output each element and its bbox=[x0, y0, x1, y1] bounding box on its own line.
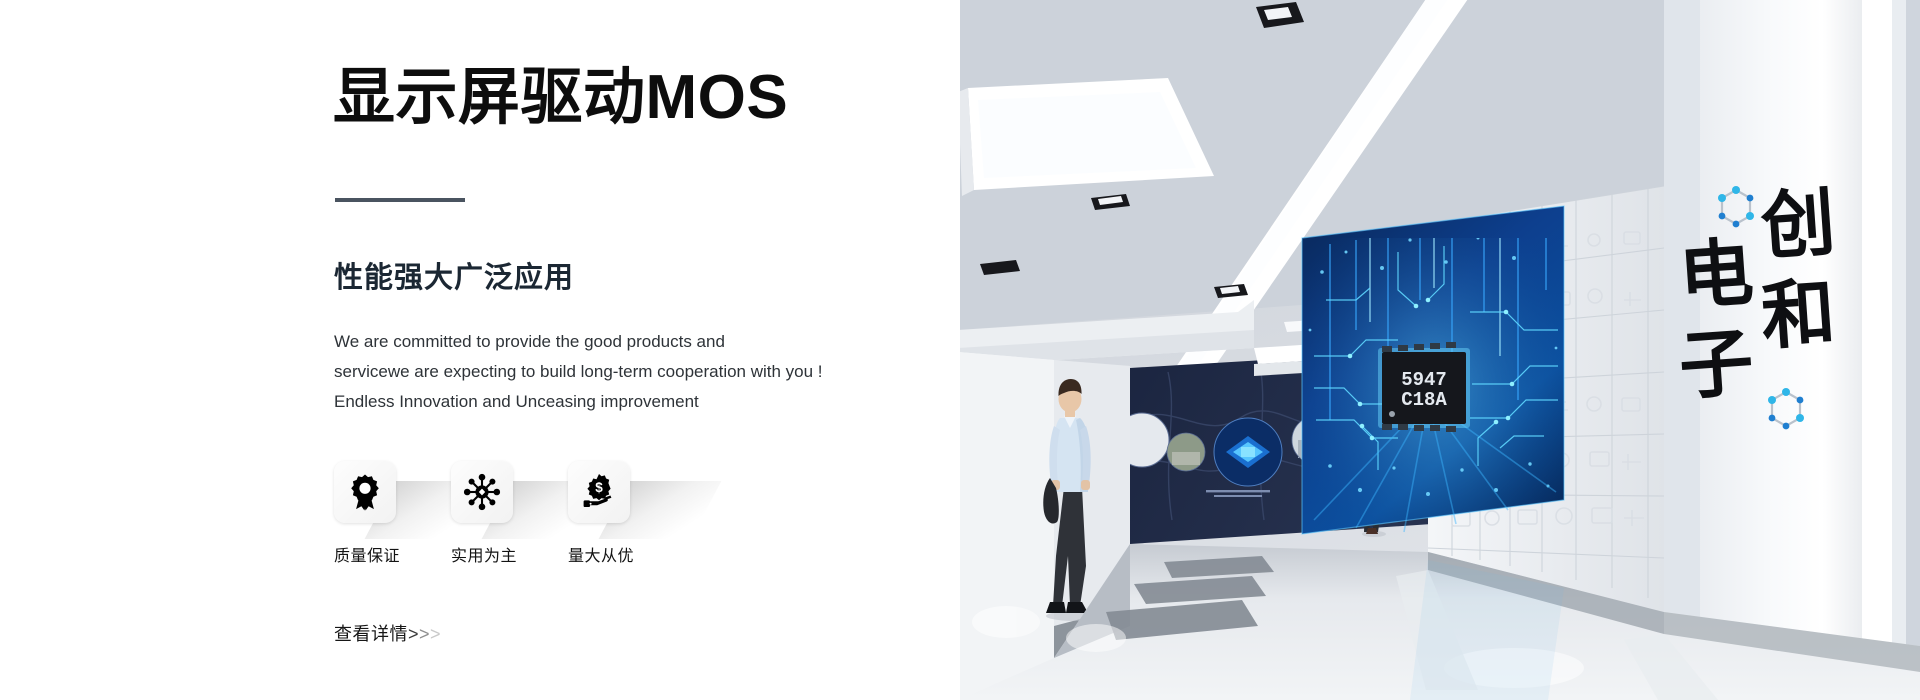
view-details-link[interactable]: 查看详情>>> bbox=[334, 620, 441, 646]
network-hub-icon bbox=[451, 461, 513, 523]
chevron-3-icon: > bbox=[430, 624, 441, 644]
showroom-photo: 5947 C18A 电 子 创 和 bbox=[958, 0, 1920, 700]
banner-text-panel: 显示屏驱动MOS 性能强大广泛应用 We are committed to pr… bbox=[0, 0, 960, 700]
hero-banner: 显示屏驱动MOS 性能强大广泛应用 We are committed to pr… bbox=[0, 0, 1920, 700]
feature-item-practical[interactable]: 实用为主 bbox=[451, 461, 568, 566]
feature-item-bulk-discount[interactable]: $ 量大从优 bbox=[568, 461, 685, 566]
feature-label: 质量保证 bbox=[334, 542, 400, 566]
description-line-1: We are committed to provide the good pro… bbox=[334, 327, 894, 357]
svg-text:子: 子 bbox=[1676, 321, 1756, 409]
description-line-2: servicewe are expecting to build long-te… bbox=[334, 357, 894, 387]
hand-money-icon: $ bbox=[568, 461, 630, 523]
description-line-3: Endless Innovation and Unceasing improve… bbox=[334, 387, 894, 417]
banner-subtitle: 性能强大广泛应用 bbox=[334, 258, 574, 298]
feature-label: 实用为主 bbox=[451, 542, 517, 566]
chevron-2-icon: > bbox=[419, 624, 430, 644]
banner-description: We are committed to provide the good pro… bbox=[334, 327, 894, 417]
svg-text:$: $ bbox=[595, 480, 603, 495]
chevron-1-icon: > bbox=[408, 624, 419, 644]
view-details-label: 查看详情 bbox=[334, 624, 408, 644]
svg-text:5947: 5947 bbox=[1401, 369, 1447, 391]
title-divider bbox=[335, 198, 465, 202]
medal-award-icon bbox=[334, 461, 396, 523]
svg-text:创: 创 bbox=[1757, 181, 1838, 269]
page-title: 显示屏驱动MOS bbox=[333, 60, 788, 136]
svg-text:C18A: C18A bbox=[1401, 389, 1447, 411]
svg-text:电: 电 bbox=[1676, 231, 1756, 319]
svg-text:和: 和 bbox=[1758, 271, 1838, 359]
feature-list: 质量保证 bbox=[334, 461, 685, 566]
feature-item-quality[interactable]: 质量保证 bbox=[334, 461, 451, 566]
feature-label: 量大从优 bbox=[568, 542, 634, 566]
